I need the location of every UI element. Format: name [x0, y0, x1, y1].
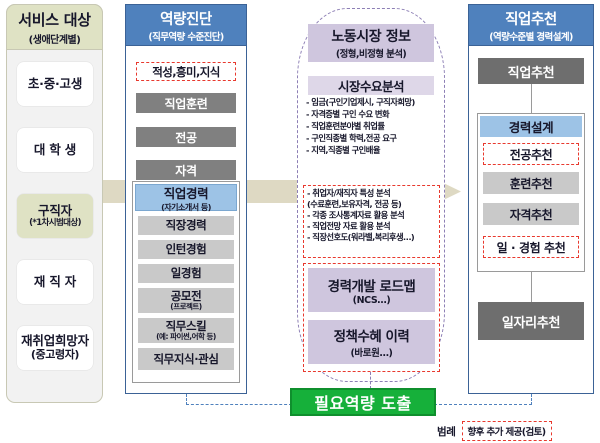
- job-recommend-top-item[interactable]: 직업추천: [478, 58, 584, 84]
- labor-market-title: 노동시장 정보: [331, 26, 410, 46]
- list-item: - 직업전망 자료 활용 분석: [307, 222, 439, 230]
- target-item-sublabel: (*1차시범대상): [29, 218, 81, 228]
- list-item: - 지역,직종별 구인배율: [306, 146, 438, 154]
- job-recommend-bottom-item[interactable]: 일자리추천: [478, 302, 584, 340]
- target-item-label: 초·중·고생: [28, 77, 82, 92]
- career-item-label: 직무지식·관심: [153, 353, 218, 366]
- design-item-work-experience[interactable]: 일 · 경험 추천: [483, 236, 579, 258]
- legend-label: 범례: [437, 424, 456, 439]
- target-item-label: 구직자: [38, 204, 72, 219]
- list-item: - 각종 조사통계자료 활용 분석: [307, 211, 439, 219]
- career-experience-subtitle: (자기소개서 등): [161, 202, 211, 213]
- diagnosis-header: 역량진단 (직무역량 수준진단): [125, 4, 247, 46]
- career-item-sublabel: (프로젝트): [170, 303, 201, 311]
- design-item-label: 훈련추천: [510, 175, 553, 192]
- diagnosis-item-label: 전공: [175, 129, 196, 146]
- labor-market-header: 노동시장 정보 (정형,비정형 분석): [308, 24, 434, 62]
- job-recommend-subtitle: (역량수준별 경력설계): [489, 29, 572, 43]
- diagram-canvas: 서비스 대상 (생애단계별) 초·중·고생 대 학 생 구직자 (*1차시범대상…: [0, 0, 600, 443]
- target-item-university[interactable]: 대 학 생: [17, 128, 93, 172]
- legend-chip-future-provision: 향후 추가 제공(검토): [462, 421, 552, 441]
- design-item-label: 일 · 경험 추천: [497, 239, 566, 256]
- connector-dashed-right-h: [434, 404, 532, 405]
- market-demand-list: - 임금(구인기업제시, 구직자희망) - 자격증별 구인 수요 변화 - 직업…: [306, 98, 438, 157]
- list-item: - 직장선호도(워라밸,복리후생…): [307, 233, 439, 241]
- career-item-job-skill[interactable]: 직무스킬 (예: 파이썬,어학 등): [138, 318, 234, 343]
- service-target-header: 서비스 대상 (생애단계별): [6, 4, 103, 50]
- connector-line: [531, 272, 532, 302]
- list-item: - 취업자/재직자 특성 분석: [307, 189, 439, 197]
- career-roadmap-subtitle: (NCS…): [353, 295, 391, 306]
- design-item-major[interactable]: 전공추천: [483, 143, 579, 165]
- career-roadmap-card[interactable]: 경력개발 로드맵 (NCS…): [308, 268, 435, 312]
- target-item-sublabel: (중고령자): [31, 349, 79, 362]
- list-item: - 구인직종별 학력,전공 요구: [306, 134, 438, 142]
- legend: 범례 향후 추가 제공(검토): [437, 421, 552, 441]
- career-item-work-experience[interactable]: 일경험: [138, 264, 234, 283]
- characteristics-analysis-list: - 취업자/재직자 특성 분석 (수료훈련,보유자격, 전공 등) - 각종 조…: [307, 189, 439, 243]
- required-competency-result[interactable]: 필요역량 도출: [290, 388, 436, 416]
- career-roadmap-title: 경력개발 로드맵: [328, 275, 416, 295]
- career-experience-title: 직업경력: [164, 183, 208, 202]
- target-item-label: 대 학 생: [34, 143, 76, 158]
- career-item-label: 직장경력: [166, 219, 207, 232]
- target-item-employed[interactable]: 재 직 자: [17, 260, 93, 304]
- diagnosis-title: 역량진단: [160, 8, 212, 29]
- diagnosis-item-certificate[interactable]: 자격: [136, 160, 236, 180]
- connector-line: [531, 84, 532, 113]
- career-item-label: 직무스킬: [166, 320, 207, 333]
- diagnosis-item-label: 자격: [175, 162, 196, 179]
- career-item-contest[interactable]: 공모전 (프로젝트): [138, 288, 234, 313]
- policy-history-title: 정책수혜 이력: [334, 325, 410, 345]
- career-design-header: 경력설계: [480, 116, 582, 137]
- target-item-elementary-middle-high[interactable]: 초·중·고생: [17, 62, 93, 106]
- career-item-job-knowledge[interactable]: 직무지식·관심: [138, 348, 234, 370]
- career-item-label: 일경험: [171, 267, 202, 280]
- diagnosis-subtitle: (직무역량 수준진단): [148, 29, 223, 43]
- diagnosis-item-major[interactable]: 전공: [136, 127, 236, 147]
- service-target-subtitle: (생애단계별): [29, 31, 81, 46]
- diagnosis-item-aptitude[interactable]: 적성,흥미,지식: [136, 62, 236, 81]
- service-target-title: 서비스 대상: [18, 9, 90, 30]
- diagnosis-item-training[interactable]: 직업훈련: [136, 93, 236, 113]
- policy-history-card[interactable]: 정책수혜 이력 (바로원…): [308, 320, 435, 364]
- list-item: - 임금(구인기업제시, 구직자희망): [306, 98, 438, 106]
- list-item: (수료훈련,보유자격, 전공 등): [307, 200, 439, 208]
- career-item-internship[interactable]: 인턴경험: [138, 240, 234, 259]
- labor-market-subtitle: (정형,비정형 분석): [336, 46, 406, 60]
- design-item-label: 자격추천: [510, 206, 553, 223]
- design-item-label: 전공추천: [510, 146, 553, 163]
- market-demand-title: 시장수요분석: [308, 76, 434, 95]
- diagnosis-item-label: 직업훈련: [165, 95, 208, 112]
- target-item-label: 재취업희망자: [21, 334, 89, 349]
- list-item: - 자격증별 구인 수요 변화: [306, 110, 438, 118]
- career-item-workplace[interactable]: 직장경력: [138, 216, 234, 235]
- design-item-training[interactable]: 훈련추천: [483, 172, 579, 194]
- connector-dashed-middle-v: [370, 372, 371, 389]
- career-item-label: 공모전: [171, 290, 202, 303]
- policy-history-subtitle: (바로원…): [350, 345, 392, 359]
- list-item: - 직업훈련분야별 취업률: [306, 122, 438, 130]
- target-item-label: 재 직 자: [34, 275, 76, 290]
- design-item-certificate[interactable]: 자격추천: [483, 203, 579, 225]
- connector-dashed-left-h: [186, 404, 292, 405]
- target-item-jobseeker[interactable]: 구직자 (*1차시범대상): [17, 194, 93, 238]
- job-recommend-header: 직업추천 (역량수준별 경력설계): [468, 4, 594, 46]
- diagnosis-item-label: 적성,흥미,지식: [152, 64, 219, 80]
- target-item-reemployment[interactable]: 재취업희망자 (중고령자): [17, 326, 93, 370]
- career-experience-header: 직업경력 (자기소개서 등): [135, 184, 237, 211]
- career-item-sublabel: (예: 파이썬,어학 등): [156, 333, 216, 341]
- career-item-label: 인턴경험: [166, 243, 207, 256]
- job-recommend-title: 직업추천: [505, 8, 557, 29]
